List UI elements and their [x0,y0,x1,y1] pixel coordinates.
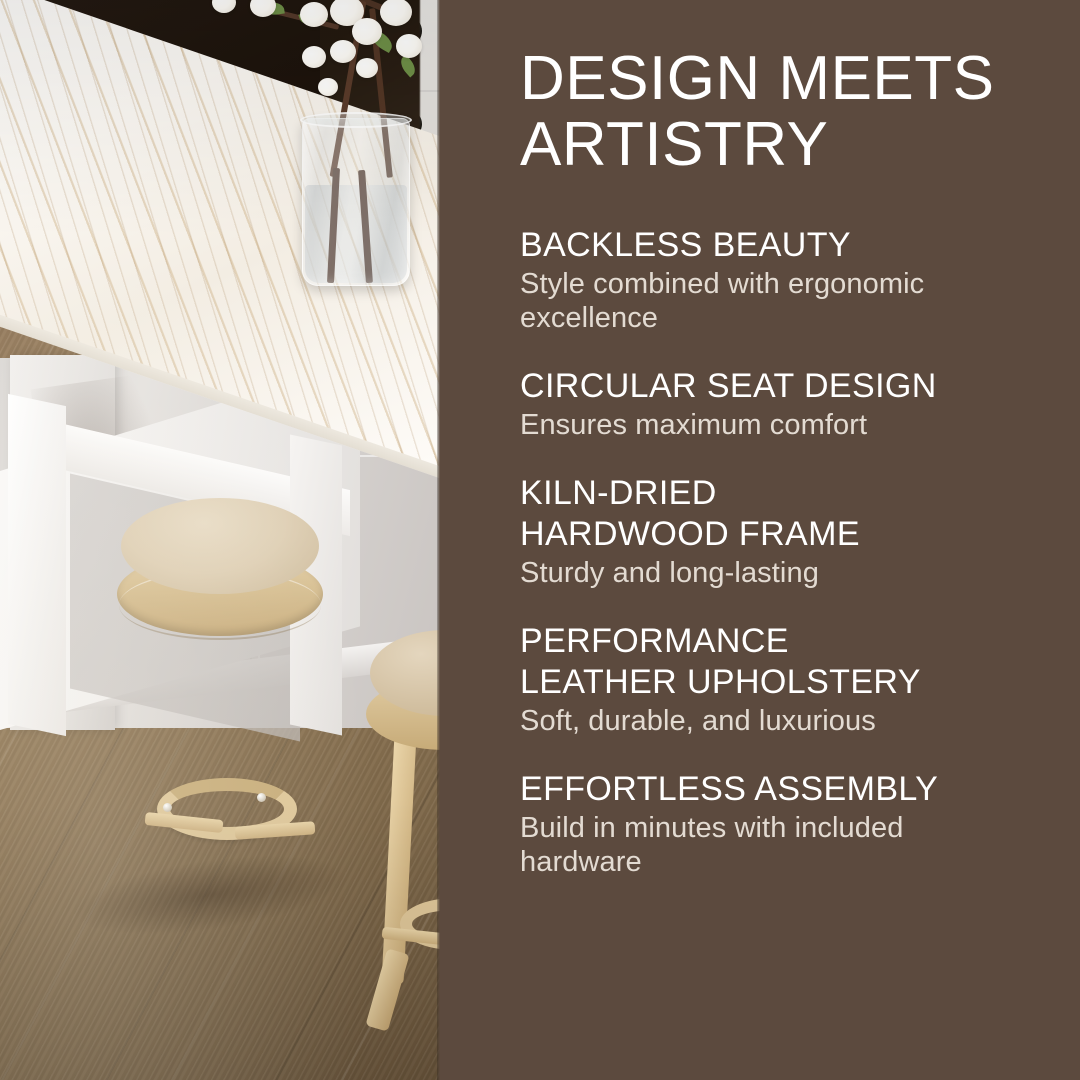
table-leg [8,394,66,736]
blossom-flower [352,18,382,45]
stool-screw [163,803,172,812]
blossom-flower [356,58,378,78]
feature-description: Style combined with ergonomic excellence [520,268,1040,336]
feature-description: Build in minutes with included hardware [520,812,1040,880]
backless-swivel-stool-secondary [370,630,440,1030]
feature-item-kiln-dried-hardwood-frame: KILN-DRIED HARDWOOD FRAME Sturdy and lon… [520,473,1040,591]
stool-screw [257,793,266,802]
feature-title: KILN-DRIED HARDWOOD FRAME [520,473,1040,554]
stool-leg-foot [365,948,409,1031]
blossom-flower [318,78,338,96]
feature-item-effortless-assembly: EFFORTLESS ASSEMBLY Build in minutes wit… [520,769,1040,880]
feature-description: Soft, durable, and luxurious [520,705,1040,739]
vase-rim [300,112,412,128]
feature-list: BACKLESS BEAUTY Style combined with ergo… [520,225,1040,881]
blossom-flower [302,46,326,68]
feature-item-performance-leather-upholstery: PERFORMANCE LEATHER UPHOLSTERY Soft, dur… [520,621,1040,739]
feature-description: Sturdy and long-lasting [520,557,1040,591]
feature-description: Ensures maximum comfort [520,409,1040,443]
feature-item-backless-beauty: BACKLESS BEAUTY Style combined with ergo… [520,225,1040,336]
feature-title: CIRCULAR SEAT DESIGN [520,366,1040,406]
blossom-flower [300,2,328,27]
stool-leg [381,734,416,985]
stool-leather-seat [121,498,319,594]
feature-item-circular-seat-design: CIRCULAR SEAT DESIGN Ensures maximum com… [520,366,1040,443]
feature-text-panel: DESIGN MEETS ARTISTRY BACKLESS BEAUTY St… [440,0,1080,1080]
glass-vase [302,118,410,286]
backless-swivel-stool-primary [105,500,335,920]
product-feature-poster: DESIGN MEETS ARTISTRY BACKLESS BEAUTY St… [0,0,1080,1080]
feature-title: PERFORMANCE LEATHER UPHOLSTERY [520,621,1040,702]
page-title: DESIGN MEETS ARTISTRY [520,46,1040,179]
blossom-flower [396,34,422,58]
feature-title: EFFORTLESS ASSEMBLY [520,769,1040,809]
feature-title: BACKLESS BEAUTY [520,225,1040,265]
product-lifestyle-photo [0,0,440,1080]
blossom-flower [330,40,356,63]
